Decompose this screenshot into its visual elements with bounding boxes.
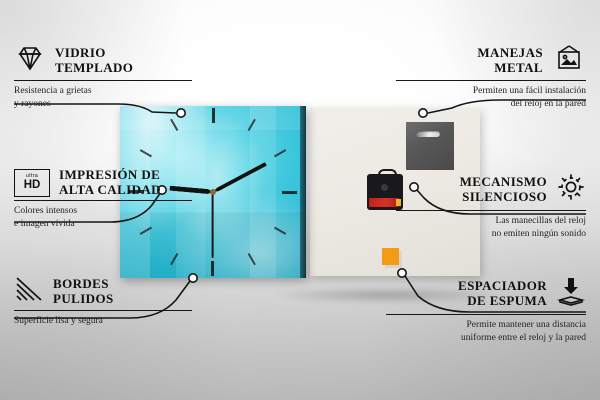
clock-tick <box>274 227 286 235</box>
feature-title: VIDRIO TEMPLADO <box>55 46 133 75</box>
gear-icon <box>556 172 586 207</box>
feature-description: Permite mantener una distancia uniforme … <box>386 319 586 344</box>
second-hand <box>212 192 214 258</box>
clock-tick <box>211 261 214 276</box>
feature-impresion-alta-calidad: ultra HD IMPRESIÓN DE ALTA CALIDAD Color… <box>14 168 192 231</box>
clock-tick <box>248 253 256 265</box>
feature-description: Las manecillas del reloj no emiten ningú… <box>396 215 586 240</box>
divider <box>14 310 192 311</box>
clock-tick <box>248 119 256 131</box>
clock-tick <box>212 108 215 123</box>
picture-frame-icon <box>552 44 586 77</box>
feature-description: Permiten una fácil instalación del reloj… <box>396 85 586 110</box>
clock-tick <box>140 149 152 157</box>
movement-hanging-loop <box>378 169 397 179</box>
diagonal-lines-icon <box>14 276 44 307</box>
metal-hanger-plate <box>406 122 454 170</box>
product-infographic: VIDRIO TEMPLADO Resistencia a grietas y … <box>0 0 600 400</box>
diamond-icon <box>14 44 46 77</box>
clock-tick <box>170 253 178 265</box>
arrow-down-pad-icon <box>556 276 586 311</box>
ultra-hd-badge-icon: ultra HD <box>14 169 50 197</box>
feature-espaciador-espuma: ESPACIADOR DE ESPUMA Permite mantener un… <box>386 276 586 344</box>
foam-spacer-pad <box>382 248 399 265</box>
feature-title: ESPACIADOR DE ESPUMA <box>458 279 547 308</box>
feature-title: MECANISMO SILENCIOSO <box>460 175 547 204</box>
divider <box>14 200 192 201</box>
feature-title: MANEJAS METAL <box>477 46 543 75</box>
feature-title: IMPRESIÓN DE ALTA CALIDAD <box>59 168 161 197</box>
divider <box>14 80 192 81</box>
divider <box>396 80 586 81</box>
hanger-slot <box>416 131 440 137</box>
battery <box>369 198 399 207</box>
clock-hub <box>210 189 216 195</box>
feature-vidrio-templado: VIDRIO TEMPLADO Resistencia a grietas y … <box>14 44 192 110</box>
movement-shaft <box>381 184 388 191</box>
feature-title: BORDES PULIDOS <box>53 277 114 306</box>
divider <box>396 210 586 211</box>
feature-description: Superficie lisa y segura <box>14 315 192 328</box>
feature-bordes-pulidos: BORDES PULIDOS Superficie lisa y segura <box>14 276 192 328</box>
clock-tick <box>170 119 178 131</box>
clock-side-edge <box>300 106 306 278</box>
feature-manejas-metal: MANEJAS METAL Permiten una fácil instala… <box>396 44 586 110</box>
clock-tick <box>274 149 286 157</box>
divider <box>386 314 586 315</box>
clock-tick <box>282 191 297 194</box>
feature-mecanismo-silencioso: MECANISMO SILENCIOSO Las manecillas del … <box>396 172 586 240</box>
feature-description: Resistencia a grietas y rayones <box>14 85 192 110</box>
feature-description: Colores intensos e imagen vívida <box>14 205 192 230</box>
